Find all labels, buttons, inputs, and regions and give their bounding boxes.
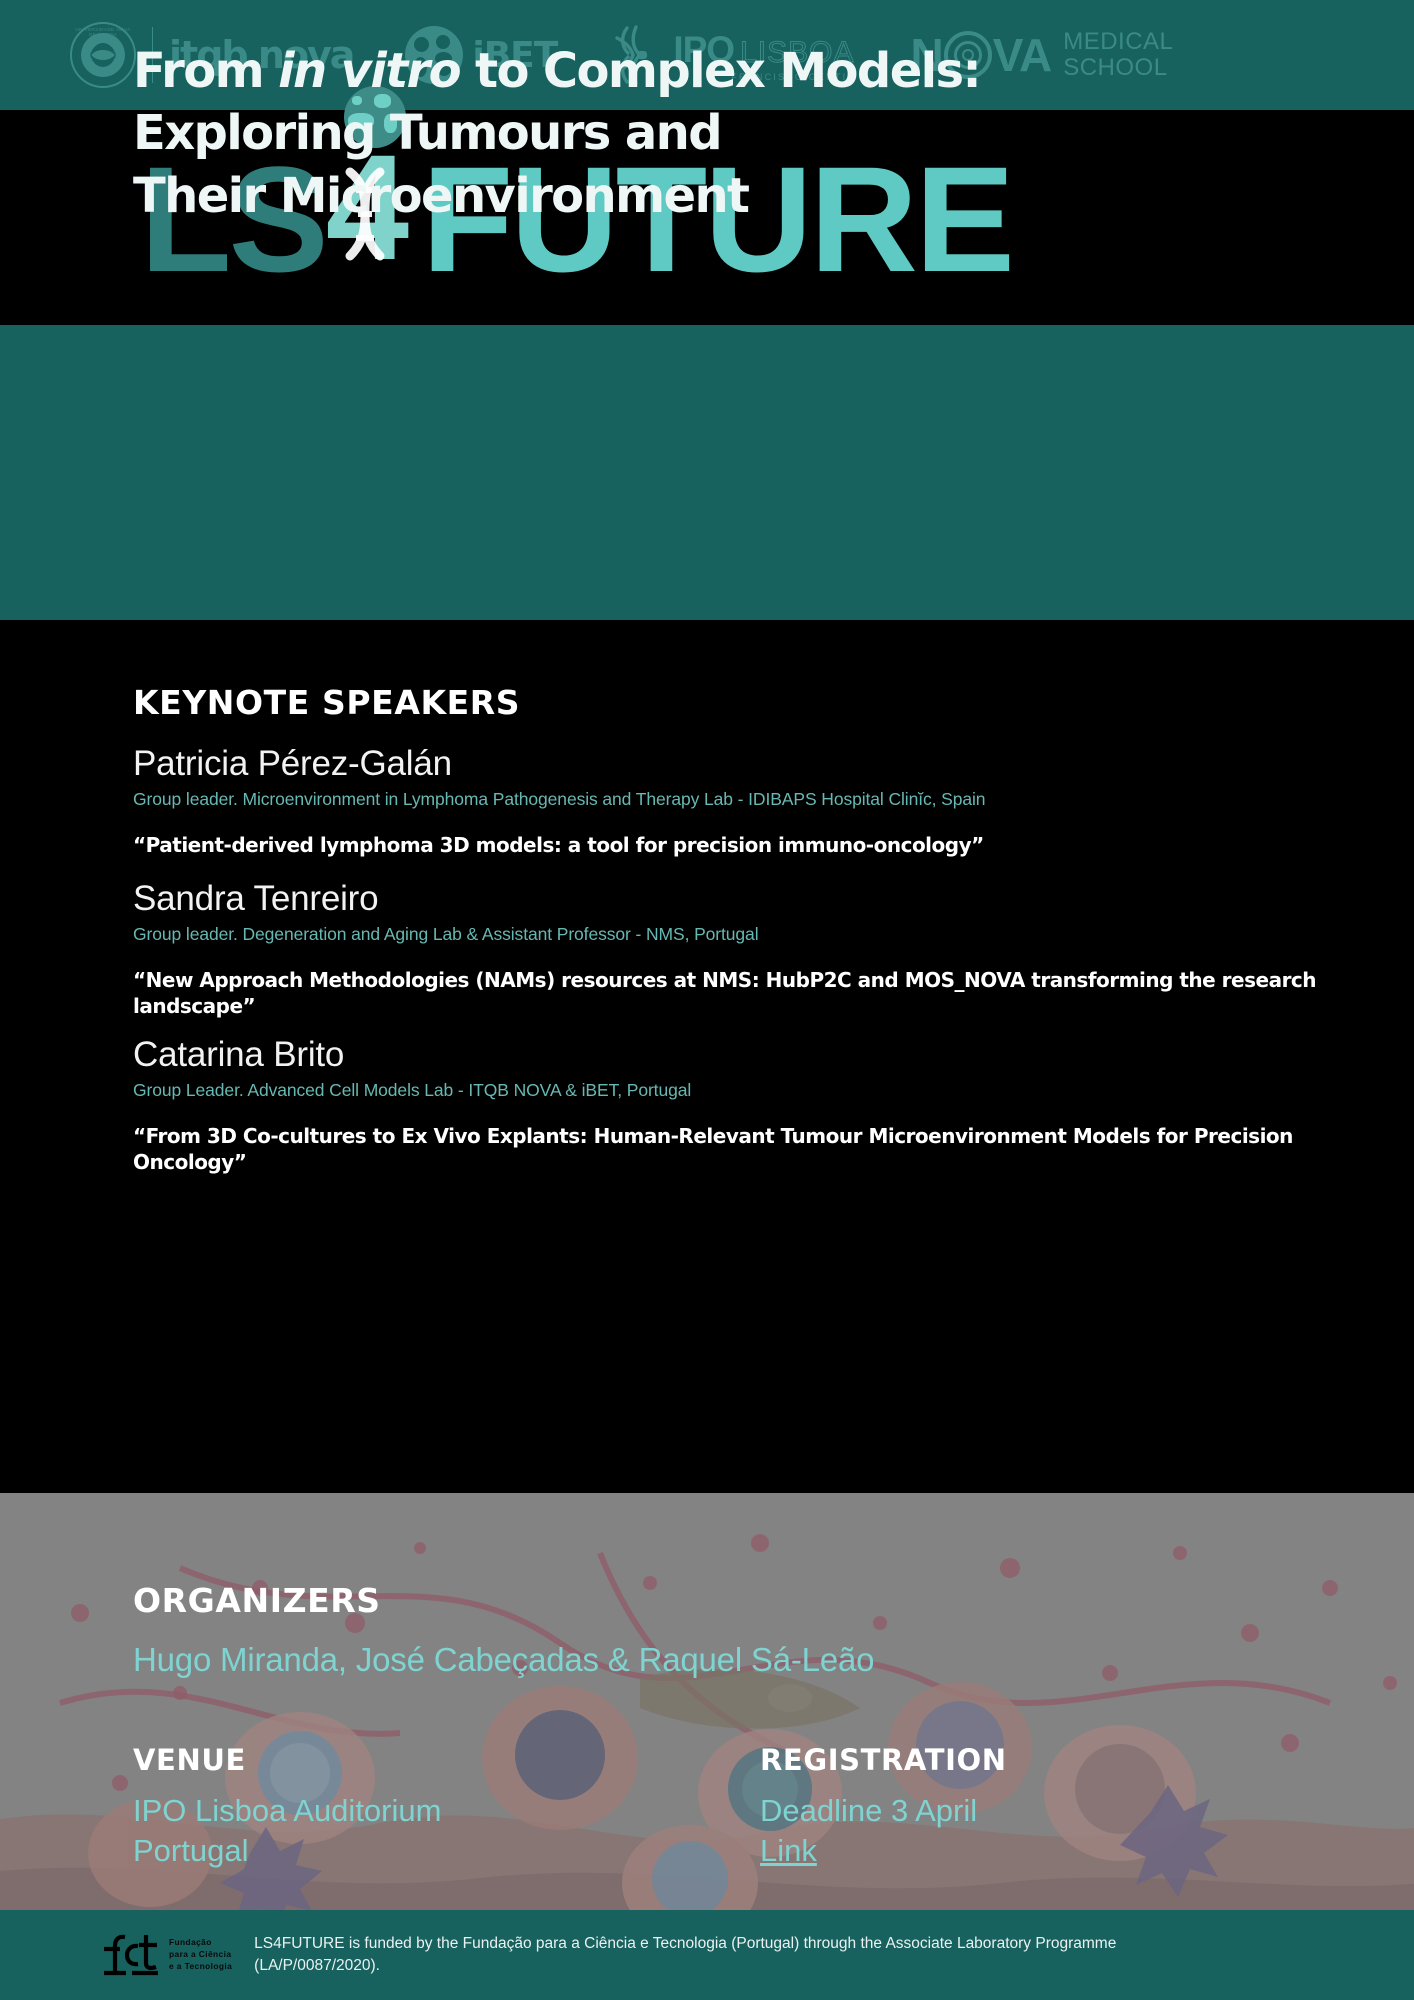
fct-word-line2: para a Ciência — [169, 1949, 232, 1961]
fct-word-line3: e a Tecnologia — [169, 1961, 232, 1973]
speaker-name: Patricia Pérez-Galán — [133, 745, 1333, 784]
venue-location: IPO Lisboa Auditorium — [133, 1793, 441, 1829]
event-poster: UNIVERSIDADE NOVA DE LISBOA itqb nova iB… — [0, 0, 1414, 2000]
title-line1-b: to Complex Models: — [460, 43, 980, 99]
speaker-talk-title: “New Approach Methodologies (NAMs) resou… — [133, 967, 1333, 1020]
speaker-affiliation: Group leader. Degeneration and Aging Lab… — [133, 924, 1333, 945]
registration-link[interactable]: Link — [760, 1833, 817, 1869]
organizers-names: Hugo Miranda, José Cabeçadas & Raquel Sá… — [133, 1641, 874, 1679]
title-line1-a: From — [133, 43, 278, 99]
keynote-speakers-section: KEYNOTE SPEAKERS Patricia Pérez-Galán Gr… — [0, 620, 1414, 1493]
fct-wordmark: Fundação para a Ciência e a Tecnologia — [169, 1937, 232, 1973]
title-line1-emphasis: in vitro — [278, 43, 460, 99]
fct-logo: Fundação para a Ciência e a Tecnologia — [100, 1933, 232, 1977]
speaker-item: Catarina Brito Group Leader. Advanced Ce… — [133, 1036, 1333, 1176]
speaker-item: Patricia Pérez-Galán Group leader. Micro… — [133, 745, 1333, 858]
speaker-item: Sandra Tenreiro Group leader. Degenerati… — [133, 880, 1333, 1020]
registration-deadline: Deadline 3 April — [760, 1793, 977, 1829]
speaker-talk-title: “From 3D Co-cultures to Ex Vivo Explants… — [133, 1123, 1333, 1176]
venue-heading: VENUE — [133, 1743, 246, 1777]
speaker-affiliation: Group Leader. Advanced Cell Models Lab -… — [133, 1080, 1333, 1101]
fct-word-line1: Fundação — [169, 1937, 232, 1949]
fct-mark-icon — [100, 1933, 162, 1977]
organizers-heading: ORGANIZERS — [133, 1581, 381, 1620]
speaker-talk-title: “Patient-derived lymphoma 3D models: a t… — [133, 832, 1333, 859]
funding-footer: Fundação para a Ciência e a Tecnologia L… — [0, 1910, 1414, 2000]
registration-heading: REGISTRATION — [760, 1743, 1007, 1777]
organizers-venue-section: ORGANIZERS Hugo Miranda, José Cabeçadas … — [0, 1493, 1414, 1910]
funding-statement: LS4FUTURE is funded by the Fundação para… — [254, 1933, 1234, 1978]
speaker-name: Catarina Brito — [133, 1036, 1333, 1075]
keynote-speakers-heading: KEYNOTE SPEAKERS — [133, 683, 520, 722]
venue-country: Portugal — [133, 1833, 248, 1869]
page-title: From in vitro to Complex Models: Explori… — [133, 40, 1283, 227]
speaker-name: Sandra Tenreiro — [133, 880, 1333, 919]
speaker-affiliation: Group leader. Microenvironment in Lympho… — [133, 789, 1333, 810]
title-line2: Exploring Tumours and — [133, 105, 721, 161]
title-band — [0, 325, 1414, 620]
title-line3: Their Microenvironment — [133, 168, 748, 224]
